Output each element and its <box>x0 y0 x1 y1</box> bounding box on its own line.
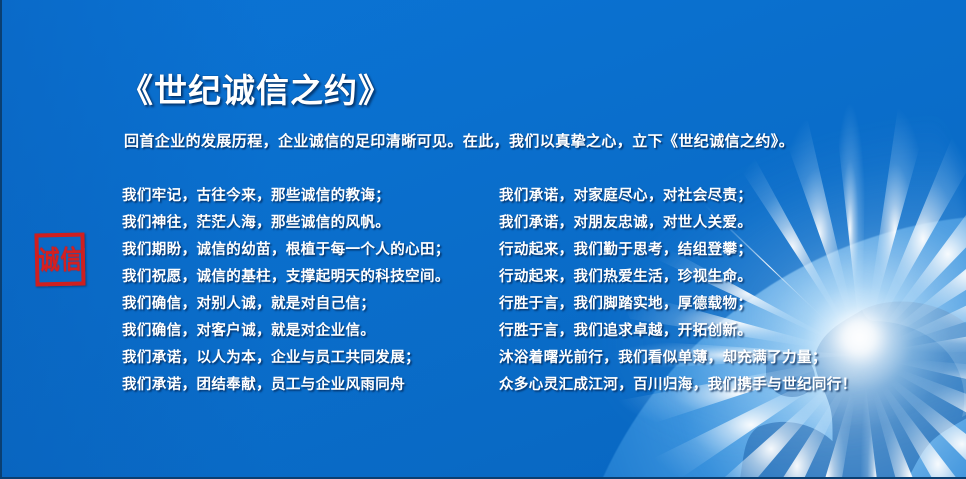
slide-content: 《世纪诚信之约》 回首企业的发展历程，企业诚信的足印清晰可见。在此，我们以真挚之… <box>2 0 966 477</box>
pledge-left-column: 我们牢记，古往今来，那些诚信的教诲； 我们神往，茫茫人海，那些诚信的风帆。 我们… <box>122 183 450 399</box>
pledge-line: 我们承诺，以人为本，企业与员工共同发展； <box>122 345 450 372</box>
pledge-line: 行动起来，我们热爱生活，珍视生命。 <box>499 264 857 291</box>
pledge-line: 我们承诺，对朋友忠诚，对世人关爱。 <box>499 210 857 237</box>
pledge-line: 我们神往，茫茫人海，那些诚信的风帆。 <box>122 210 450 237</box>
page-title: 《世纪诚信之约》 <box>120 64 392 112</box>
page-subtitle: 回首企业的发展历程，企业诚信的足印清晰可见。在此，我们以真挚之心，立下《世纪诚信… <box>124 130 794 151</box>
pledge-line: 行胜于言，我们追求卓越，开拓创新。 <box>499 318 857 345</box>
chengxin-seal: 诚 信 <box>34 232 85 286</box>
seal-char-cheng: 诚 <box>38 246 60 273</box>
pledge-line: 我们确信，对客户诚，就是对企业信。 <box>122 318 450 345</box>
slide-canvas: 《世纪诚信之约》 回首企业的发展历程，企业诚信的足印清晰可见。在此，我们以真挚之… <box>0 0 966 479</box>
pledge-line: 我们承诺，团结奉献，员工与企业风雨同舟 <box>122 372 450 399</box>
seal-char-xin: 信 <box>60 246 82 273</box>
pledge-line: 我们承诺，对家庭尽心，对社会尽责； <box>499 183 857 210</box>
pledge-line: 我们祝愿，诚信的基柱，支撑起明天的科技空间。 <box>122 264 450 291</box>
pledge-right-column: 我们承诺，对家庭尽心，对社会尽责； 我们承诺，对朋友忠诚，对世人关爱。 行动起来… <box>499 183 857 399</box>
pledge-line: 我们期盼，诚信的幼苗，根植于每一个人的心田； <box>122 237 450 264</box>
pledge-line: 行胜于言，我们脚踏实地，厚德载物； <box>499 291 857 318</box>
pledge-line: 行动起来，我们勤于思考，结组登攀； <box>499 237 857 264</box>
seal-inner: 诚 信 <box>41 239 80 281</box>
pledge-line: 我们牢记，古往今来，那些诚信的教诲； <box>122 183 450 210</box>
pledge-line: 众多心灵汇成江河，百川归海，我们携手与世纪同行！ <box>499 372 857 399</box>
pledge-line: 我们确信，对别人诚，就是对自己信； <box>122 291 450 318</box>
pledge-line: 沐浴着曙光前行，我们看似单薄，却充满了力量； <box>499 345 857 372</box>
